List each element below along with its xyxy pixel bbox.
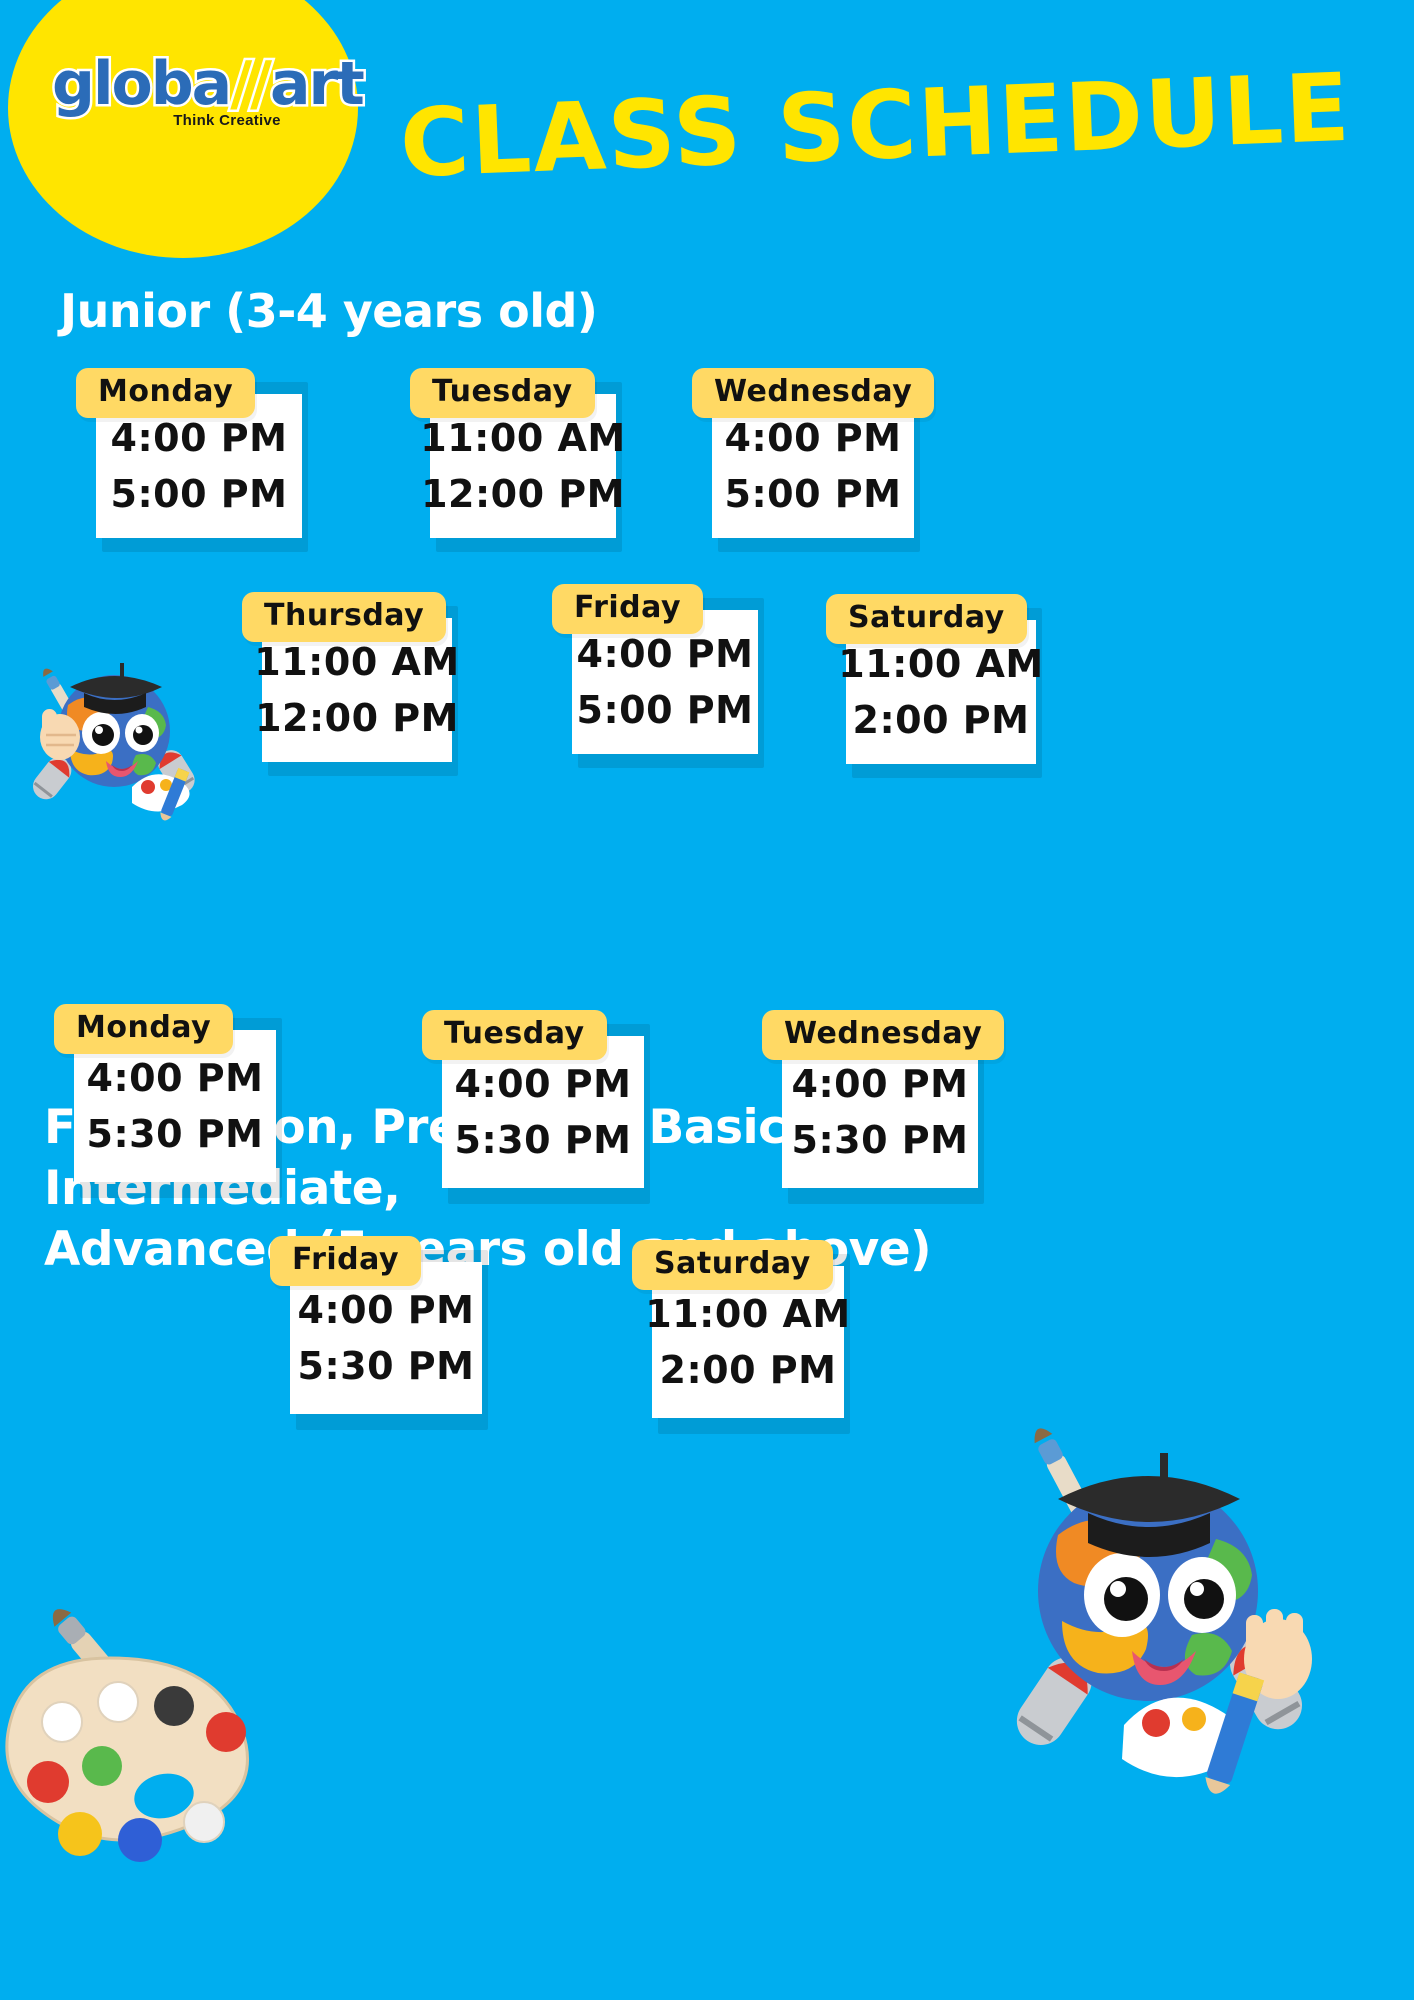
card-day-label: Tuesday	[422, 1010, 607, 1060]
card-day-label: Monday	[54, 1004, 233, 1054]
globe-mascot-graduate-icon	[8, 645, 223, 830]
artist-palette-icon	[0, 1590, 318, 1920]
card-time: 5:00 PM	[577, 682, 754, 738]
card-time: 12:00 PM	[421, 466, 625, 522]
logo-wordmark: globa//art	[52, 52, 324, 116]
card-day-label: Wednesday	[692, 368, 934, 418]
card-time: 2:00 PM	[853, 692, 1030, 748]
logo-word-part2: art	[270, 49, 363, 119]
card-day-label: Saturday	[826, 594, 1027, 644]
globalart-logo: globa//art Think Creative	[52, 52, 324, 142]
card-day-label: Saturday	[632, 1240, 833, 1290]
page-title-text: CLASS SCHEDULE	[398, 60, 1353, 194]
card-day-label: Friday	[552, 584, 703, 634]
card-time: 2:00 PM	[660, 1342, 837, 1398]
globe-mascot-graduate-icon	[938, 1395, 1358, 1795]
logo-slash-mark: //	[230, 49, 270, 119]
card-time: 5:00 PM	[111, 466, 288, 522]
card-time: 11:00 AM	[645, 1286, 850, 1342]
card-time: 4:00 PM	[455, 1056, 632, 1112]
card-time: 5:30 PM	[792, 1112, 969, 1168]
card-time: 11:00 AM	[254, 634, 459, 690]
card-day-label: Thursday	[242, 592, 446, 642]
card-time: 5:00 PM	[725, 466, 902, 522]
card-time: 4:00 PM	[87, 1050, 264, 1106]
card-time: 11:00 AM	[838, 636, 1043, 692]
poster-header: globa//art Think Creative CLASS SCHEDULE	[0, 0, 1414, 290]
card-time: 12:00 PM	[255, 690, 459, 746]
card-time: 5:30 PM	[87, 1106, 264, 1162]
card-time: 5:30 PM	[298, 1338, 475, 1394]
card-time: 4:00 PM	[298, 1282, 475, 1338]
page-title: CLASS SCHEDULE	[398, 60, 1353, 194]
section-heading-junior: Junior (3-4 years old)	[60, 282, 597, 340]
card-time: 11:00 AM	[420, 410, 625, 466]
card-time: 4:00 PM	[725, 410, 902, 466]
card-time: 4:00 PM	[577, 626, 754, 682]
card-day-label: Monday	[76, 368, 255, 418]
card-day-label: Wednesday	[762, 1010, 1004, 1060]
card-day-label: Friday	[270, 1236, 421, 1286]
section-heading-line2: Advanced (5 years old and above)	[44, 1219, 1144, 1280]
logo-word-part1: globa	[52, 49, 230, 119]
card-time: 4:00 PM	[111, 410, 288, 466]
card-time: 4:00 PM	[792, 1056, 969, 1112]
card-day-label: Tuesday	[410, 368, 595, 418]
card-time: 5:30 PM	[455, 1112, 632, 1168]
